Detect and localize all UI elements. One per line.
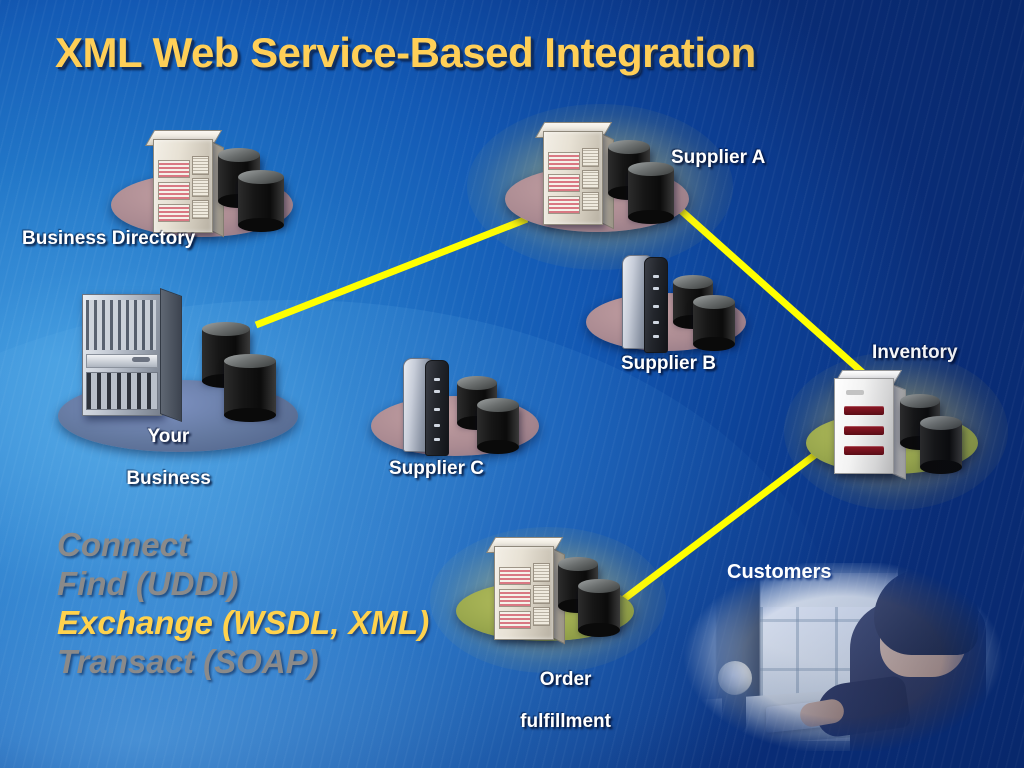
- label-inventory: Inventory: [872, 342, 958, 363]
- node-supplier-c[interactable]: [365, 358, 540, 473]
- customers-photo[interactable]: [682, 563, 1004, 751]
- photo-blue-tint: [682, 563, 1004, 751]
- inventory-server-icon: [834, 378, 906, 474]
- bullet-connect: Connect: [57, 525, 429, 564]
- label-your-business: Your Business: [98, 405, 218, 510]
- bullet-transact: Transact (SOAP): [57, 642, 429, 681]
- process-steps-list: Connect Find (UDDI) Exchange (WSDL, XML)…: [57, 525, 429, 681]
- node-order-fulfillment[interactable]: [450, 535, 650, 665]
- bullet-find: Find (UDDI): [57, 564, 429, 603]
- storage-cylinder-icon: [578, 579, 620, 637]
- label-supplier-a: Supplier A: [671, 147, 765, 168]
- slide-canvas: XML Web Service-Based Integration Busine…: [0, 0, 1024, 768]
- node-supplier-a[interactable]: [495, 118, 705, 253]
- label-supplier-c: Supplier C: [389, 458, 484, 479]
- storage-cylinder-icon: [920, 416, 962, 474]
- storage-cylinder-icon: [628, 162, 674, 224]
- label-order-line1: Order: [540, 669, 592, 690]
- storage-cylinder-icon: [238, 170, 284, 232]
- storage-cylinder-icon: [693, 295, 735, 351]
- label-order-fulfillment: Order fulfillment: [460, 648, 650, 753]
- bullet-exchange: Exchange (WSDL, XML): [57, 603, 429, 642]
- page-title: XML Web Service-Based Integration: [55, 29, 756, 77]
- rack-server-icon: [535, 122, 615, 227]
- label-customers: Customers: [727, 561, 831, 584]
- mainframe-server-icon: [82, 288, 187, 416]
- tower-server-icon: [622, 255, 674, 355]
- storage-cylinder-icon: [477, 398, 519, 454]
- label-business-directory: Business Directory: [22, 228, 195, 249]
- rack-server-icon: [145, 130, 225, 235]
- rack-server-icon: [486, 537, 566, 642]
- label-your-business-line2: Business: [126, 468, 210, 489]
- label-order-line2: fulfillment: [520, 711, 611, 732]
- label-supplier-b: Supplier B: [621, 353, 716, 374]
- tower-server-icon: [403, 358, 455, 458]
- label-your-business-line1: Your: [147, 426, 189, 447]
- node-inventory[interactable]: [800, 370, 990, 495]
- storage-cylinder-icon: [224, 354, 276, 422]
